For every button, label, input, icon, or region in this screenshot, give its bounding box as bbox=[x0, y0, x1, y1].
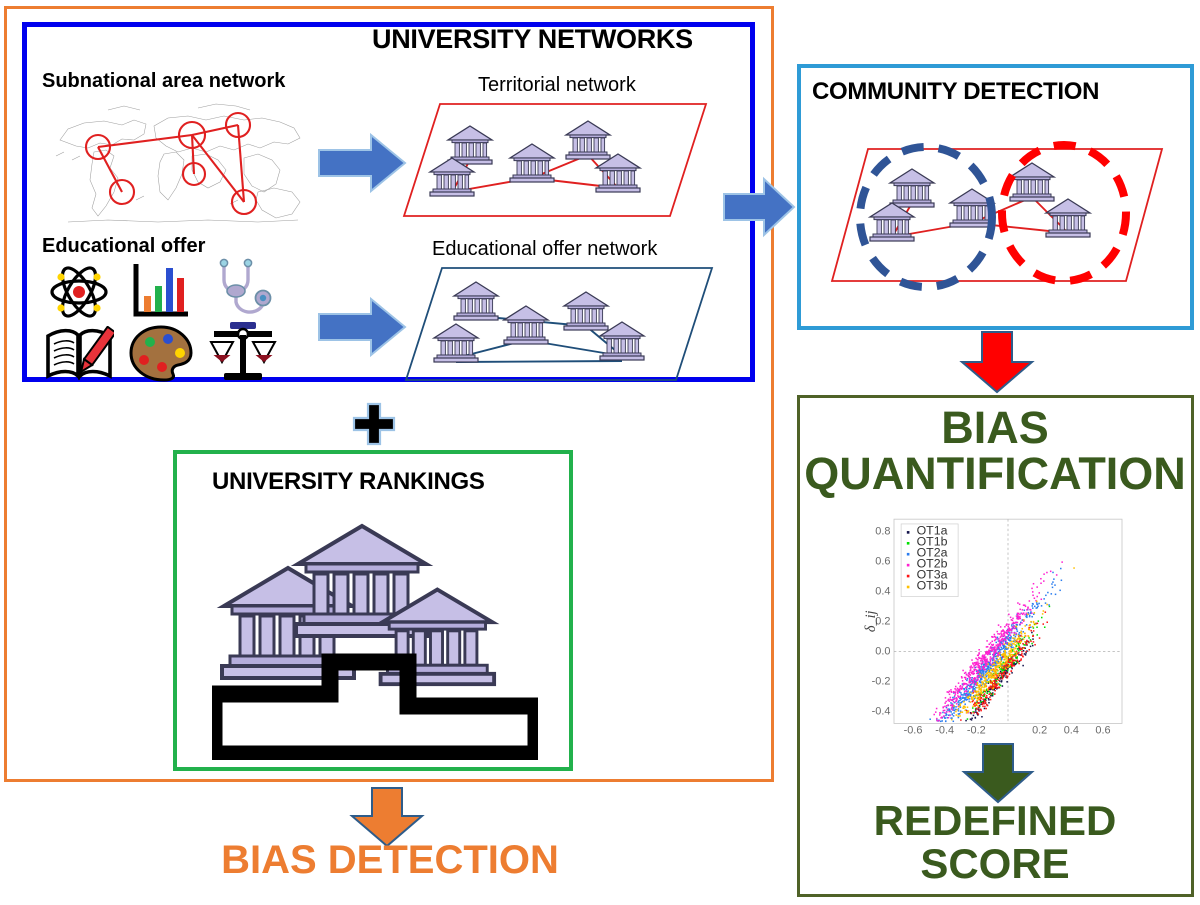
atom-icon bbox=[48, 262, 110, 322]
svg-text:-0.2: -0.2 bbox=[967, 724, 986, 736]
redefined-score-line1: REDEFINED bbox=[800, 800, 1190, 843]
community-detection-graph bbox=[820, 125, 1176, 310]
bias-quantification-line1: BIAS bbox=[800, 405, 1190, 451]
scales-icon bbox=[208, 322, 278, 382]
arrow-to-redefined-score bbox=[960, 742, 1036, 804]
svg-text:0.0: 0.0 bbox=[875, 645, 890, 657]
plot-legend: OT1aOT1bOT2aOT2bOT3aOT3b bbox=[901, 524, 958, 597]
podium-icon bbox=[212, 522, 538, 760]
community-detection-title: COMMUNITY DETECTION bbox=[812, 78, 1099, 106]
svg-text:-0.6: -0.6 bbox=[904, 724, 923, 736]
university-networks-title: UNIVERSITY NETWORKS bbox=[372, 24, 693, 55]
svg-text:0.6: 0.6 bbox=[1095, 724, 1110, 736]
svg-text:0.2: 0.2 bbox=[1032, 724, 1047, 736]
arrow-offer-to-network bbox=[317, 296, 407, 358]
territorial-network-label: Territorial network bbox=[478, 74, 636, 97]
arrow-networks-to-community bbox=[722, 176, 796, 238]
bias-quantification-line2: QUANTIFICATION bbox=[800, 451, 1190, 497]
svg-text:0.8: 0.8 bbox=[875, 525, 890, 537]
educational-offer-network-label: Educational offer network bbox=[432, 238, 657, 261]
university-rankings-title: UNIVERSITY RANKINGS bbox=[212, 468, 485, 496]
bias-quantification-title: BIAS QUANTIFICATION bbox=[800, 405, 1190, 497]
book-pencil-icon bbox=[44, 326, 114, 382]
svg-text:-0.2: -0.2 bbox=[872, 675, 891, 687]
legend-entry-OT3b: OT3b bbox=[917, 578, 948, 592]
educational-offer-label: Educational offer bbox=[42, 235, 205, 258]
palette-icon bbox=[128, 324, 194, 382]
svg-text:-0.4: -0.4 bbox=[935, 724, 954, 736]
world-map-network-icon bbox=[48, 96, 316, 232]
subnational-area-network-label: Subnational area network bbox=[42, 70, 285, 93]
svg-text:0.6: 0.6 bbox=[875, 555, 890, 567]
stethoscope-icon bbox=[212, 258, 274, 322]
redefined-score-label: REDEFINED SCORE bbox=[800, 800, 1190, 886]
arrow-community-to-quantification bbox=[958, 330, 1036, 394]
plus-operator bbox=[352, 402, 396, 446]
svg-text:-0.4: -0.4 bbox=[872, 706, 891, 718]
territorial-network-graph bbox=[400, 100, 710, 220]
arrow-map-to-territorial bbox=[317, 132, 407, 194]
bar-chart-icon bbox=[130, 262, 192, 322]
svg-text:0.4: 0.4 bbox=[875, 585, 890, 597]
svg-text:0.4: 0.4 bbox=[1064, 724, 1079, 736]
bias-scatter-plot: 0.80.60.40.20.0-0.2-0.4 -0.6-0.4-0.20.20… bbox=[856, 512, 1141, 752]
figure-canvas: UNIVERSITY NETWORKS Subnational area net… bbox=[0, 0, 1200, 905]
y-axis-label: δ_ij bbox=[863, 610, 879, 632]
bias-detection-label: BIAS DETECTION bbox=[150, 840, 630, 881]
educational-offer-network-graph bbox=[400, 264, 720, 384]
redefined-score-line2: SCORE bbox=[800, 843, 1190, 886]
